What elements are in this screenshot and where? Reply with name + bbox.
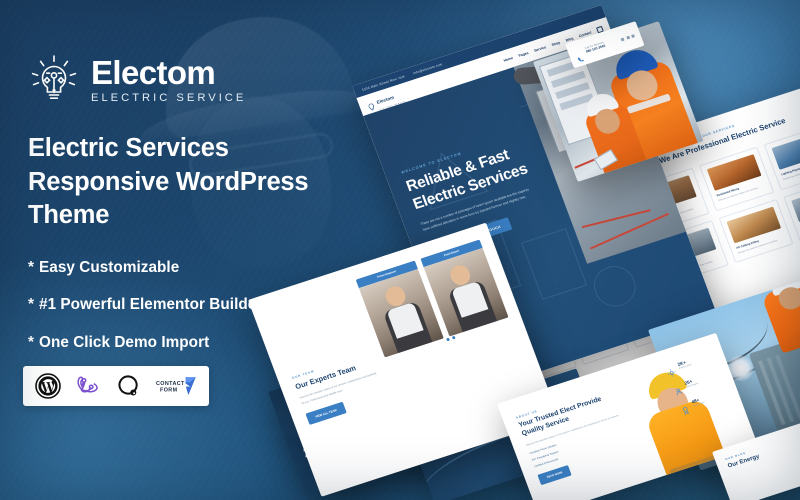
nav-item-service[interactable]: Service (533, 45, 546, 53)
contact-form-7-icon[interactable]: CONTACT FORM (155, 373, 197, 399)
feature-label: Easy Customizable (39, 259, 179, 276)
promo-copy: Electom ELECTRIC SERVICE Electric Servic… (28, 52, 368, 371)
feature-item: *#1 Powerful Elementor Builder (28, 296, 368, 314)
service-card[interactable]: AC Cabling Fitting Discover the selectio… (718, 199, 793, 263)
service-card[interactable]: Residential Wiring Discover the selectio… (699, 147, 774, 211)
redux-icon[interactable] (75, 373, 101, 399)
side-stat-item: 2K+ Projects Done (664, 351, 715, 375)
svg-text:FORM: FORM (160, 387, 178, 393)
instagram-icon (631, 34, 635, 38)
page-title: Electric Services Responsive WordPress T… (28, 132, 368, 233)
slider-revolution-icon[interactable] (115, 373, 141, 399)
nav-item-pages[interactable]: Pages (518, 50, 529, 57)
feature-item: *One Click Demo Import (28, 334, 368, 352)
about-read-more-button[interactable]: READ MORE (537, 465, 572, 485)
nav-item-home[interactable]: Home (503, 56, 514, 63)
feature-list: *Easy Customizable *#1 Powerful Elemento… (28, 259, 368, 352)
star-bullet: * (28, 334, 34, 351)
star-bullet: * (28, 296, 34, 313)
social-icons[interactable] (620, 34, 634, 41)
feature-label: #1 Powerful Elementor Builder (39, 296, 262, 313)
plugin-badges: CONTACT FORM (23, 366, 209, 406)
mockup-logo-name: Electom (376, 95, 395, 105)
team-cards: Power Engineer Panel Expert (356, 239, 509, 357)
feature-label: One Click Demo Import (39, 334, 209, 351)
side-stat-item: 25+ Team Experts (672, 370, 723, 394)
brand-tagline: ELECTRIC SERVICE (91, 93, 246, 104)
service-photo (791, 185, 800, 222)
brand-lockup: Electom ELECTRIC SERVICE (28, 52, 368, 108)
brand-name: Electom (91, 56, 246, 89)
service-photo (772, 133, 800, 170)
star-bullet: * (28, 259, 34, 276)
user-icon (672, 383, 684, 394)
side-stat-item: 48+ Awards Won (679, 389, 730, 413)
promo-banner: OUR SERVICES We Are Professional Electri… (0, 0, 800, 500)
team-view-all-button[interactable]: VIEW ALL TEAM (305, 402, 346, 425)
nav-item-shop[interactable]: Shop (551, 40, 561, 46)
feature-item: *Easy Customizable (28, 259, 368, 277)
svg-text:CONTACT: CONTACT (156, 381, 185, 387)
lightbulb-circuit-icon (28, 52, 80, 108)
gear-icon (664, 364, 676, 375)
facebook-icon (620, 37, 624, 41)
twitter-icon (626, 35, 630, 39)
award-icon (679, 401, 691, 412)
phone-icon (574, 49, 583, 58)
wordpress-icon[interactable] (35, 373, 61, 399)
